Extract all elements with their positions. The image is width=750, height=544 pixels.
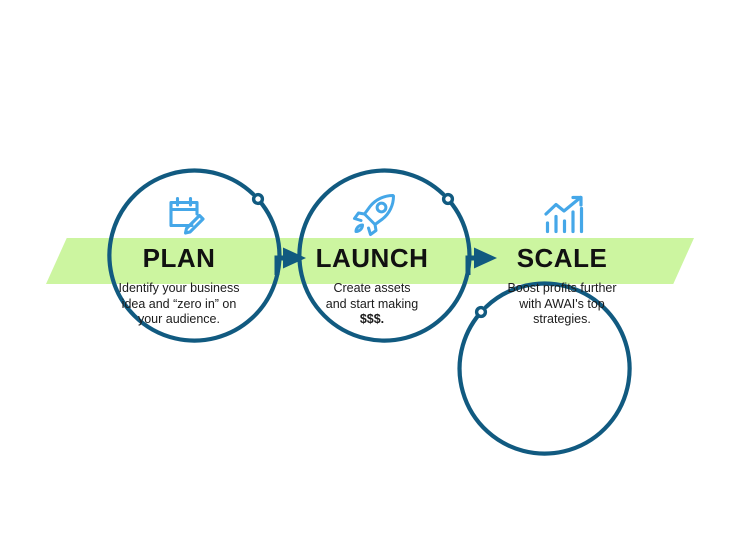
step-launch: LAUNCH Create assets and start making $$…: [272, 241, 472, 328]
step-title-scale: SCALE: [462, 241, 662, 275]
step-desc-emphasis: $$$.: [360, 312, 384, 326]
step-desc-line: Identify your business: [119, 281, 240, 295]
step-desc-line: with AWAI's top: [519, 297, 605, 311]
step-desc-line: Create assets: [333, 281, 410, 295]
step-description-scale: Boost profits further with AWAI's top st…: [462, 281, 662, 328]
infographic-canvas: PLAN Identify your business idea and “ze…: [0, 0, 750, 544]
step-scale: SCALE Boost profits further with AWAI's …: [462, 241, 662, 328]
step-desc-line: Boost profits further: [507, 281, 616, 295]
step-desc-line: and start making: [326, 297, 418, 311]
step-desc-line: idea and “zero in” on: [122, 297, 237, 311]
step-plan: PLAN Identify your business idea and “ze…: [79, 241, 279, 328]
bar-chart-growth-icon: [539, 192, 591, 238]
step-description-plan: Identify your business idea and “zero in…: [79, 281, 279, 328]
step-title-plan: PLAN: [79, 241, 279, 275]
calendar-pencil-icon: [159, 192, 211, 238]
step-desc-line: your audience.: [138, 312, 220, 326]
step-description-launch: Create assets and start making $$$.: [272, 281, 472, 328]
rocket-icon: [349, 192, 401, 238]
step-title-launch: LAUNCH: [272, 241, 472, 275]
step-desc-line: strategies.: [533, 312, 591, 326]
